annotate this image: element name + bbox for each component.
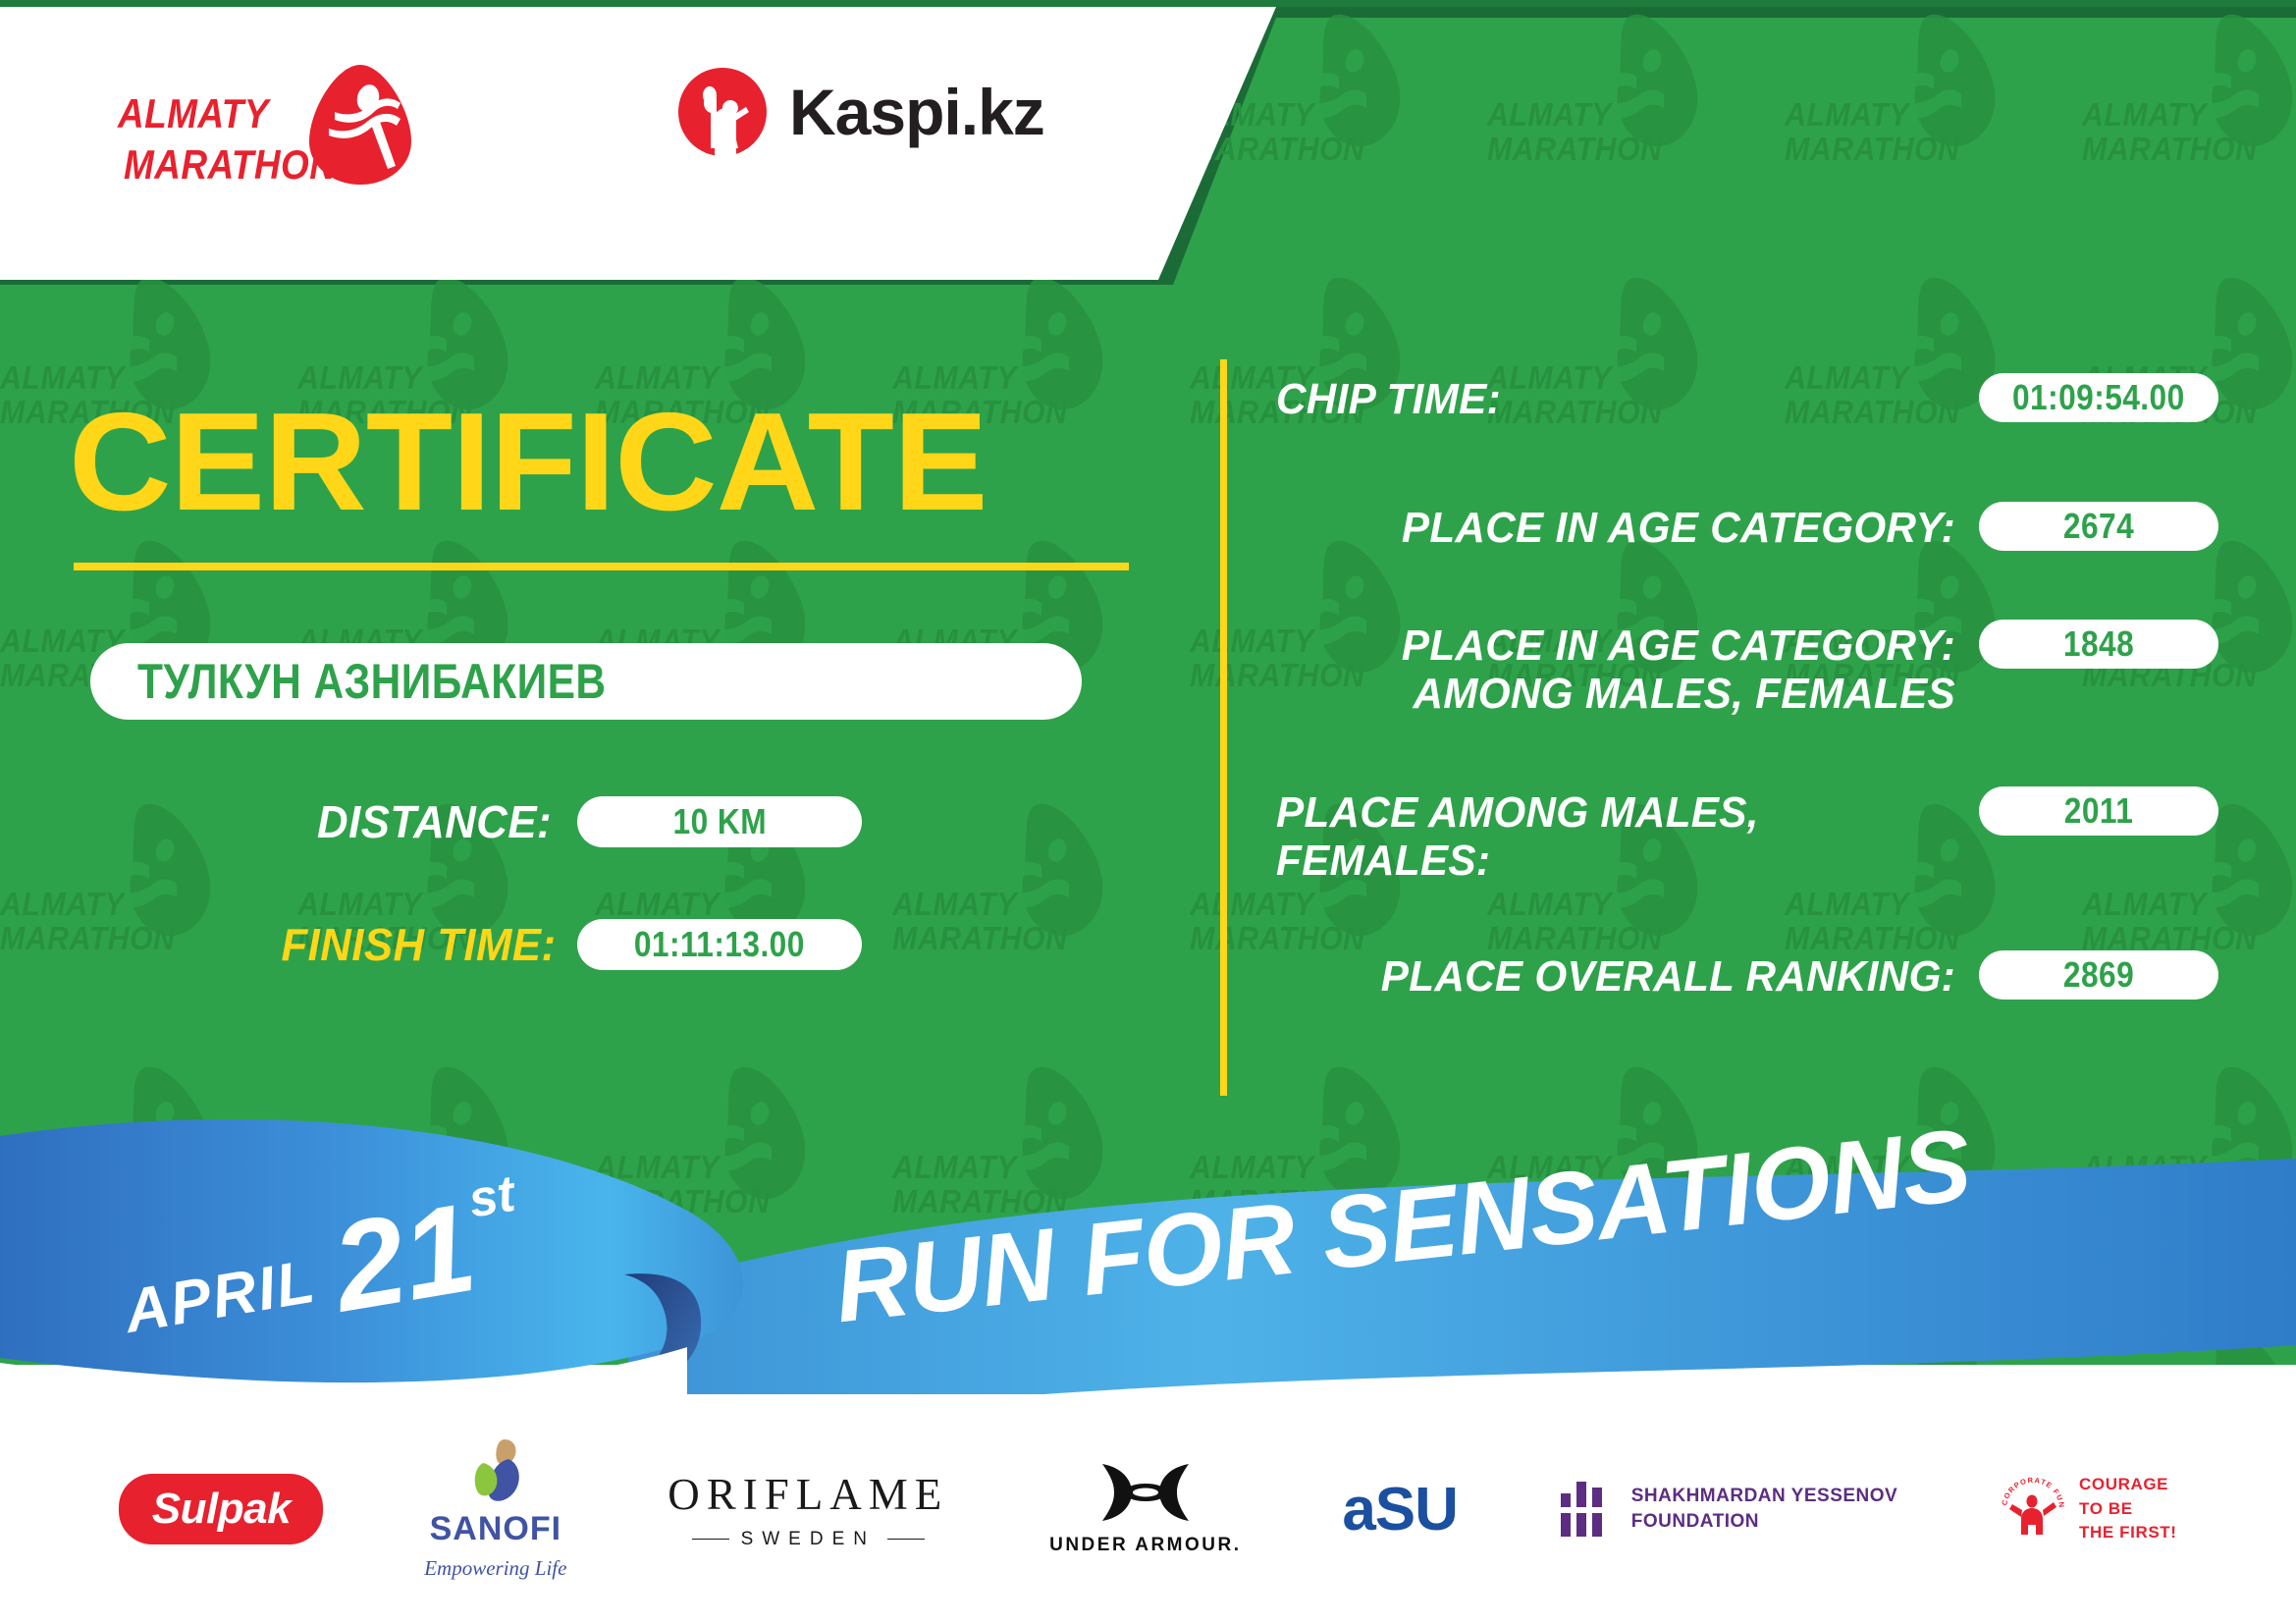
- sponsor-asu-name: aSU: [1342, 1475, 1458, 1544]
- sponsor-oriflame-name: ORIFLAME: [667, 1469, 948, 1520]
- place-overall-value: 2869: [2063, 954, 2134, 996]
- chip-time-value: 01:09:54.00: [2012, 377, 2185, 418]
- place-among-gender-label: PLACE AMONG MALES, FEMALES:: [1276, 786, 1928, 886]
- kaspi-people-circle-icon: [677, 67, 768, 157]
- finish-time-value: 01:11:13.00: [634, 924, 805, 965]
- finish-time-label: FINISH TIME:: [282, 918, 553, 971]
- stat-row: PLACE IN AGE CATEGORY: AMONG MALES, FEMA…: [1276, 620, 2218, 719]
- distance-value: 10 KM: [672, 801, 767, 842]
- sponsor-under-armour-name: UNDER ARMOUR.: [1049, 1535, 1241, 1556]
- almaty-logo-line1: ALMATY: [118, 90, 269, 137]
- sponsor-oriflame-sub-wrap: SWEDEN: [692, 1529, 925, 1550]
- sponsor-sanofi-logo: SANOFI Empowering Life: [424, 1437, 566, 1581]
- distance-label: DISTANCE:: [282, 795, 553, 848]
- stat-row: PLACE AMONG MALES, FEMALES: 2011: [1276, 786, 2218, 886]
- sponsor-sanofi-tagline: Empowering Life: [424, 1556, 566, 1581]
- sponsor-asu-logo: aSU: [1342, 1475, 1458, 1544]
- participant-name: ТУЛКУН АЗНИБАКИЕВ: [137, 653, 606, 710]
- certificate-root: ALMATY MARATHON ALMATY MARATHON: [0, 0, 2296, 1624]
- almaty-logo-line2: MARATHON: [124, 141, 336, 189]
- stat-row: PLACE OVERALL RANKING: 2869: [1276, 950, 2218, 1001]
- corporate-fund-ring-icon: CORPORATE FUND: [1999, 1475, 2067, 1543]
- sponsor-yessenov-text: SHAKHMARDAN YESSENOV FOUNDATION: [1631, 1484, 1897, 1534]
- chip-time-value-pill: 01:09:54.00: [1979, 373, 2218, 422]
- place-overall-label: PLACE OVERALL RANKING:: [1304, 950, 1955, 1001]
- sponsor-oriflame-logo: ORIFLAME SWEDEN: [667, 1469, 948, 1550]
- stat-row: PLACE IN AGE CATEGORY: 2674: [1276, 502, 2218, 552]
- place-age-category-value: 2674: [2063, 506, 2134, 547]
- finish-time-row: FINISH TIME: 01:11:13.00: [267, 918, 862, 971]
- sponsor-sulpak-logo: Sulpak: [119, 1474, 323, 1544]
- distance-row: DISTANCE: 10 KM: [267, 795, 862, 848]
- place-age-category-label: PLACE IN AGE CATEGORY:: [1304, 502, 1955, 552]
- sanofi-mark-icon: [465, 1437, 526, 1504]
- sponsor-yessenov-line1: SHAKHMARDAN YESSENOV: [1631, 1484, 1897, 1509]
- under-armour-glyph-icon: [1095, 1462, 1197, 1523]
- sponsor-corporate-fund-logo: CORPORATE FUND COURAGE TO BE THE FIRST!: [1999, 1473, 2177, 1545]
- yessenov-bars-icon: [1559, 1480, 1614, 1539]
- event-month: APRIL: [120, 1247, 321, 1347]
- sponsor-yessenov-line2: FOUNDATION: [1631, 1509, 1897, 1535]
- participant-name-field: ТУЛКУН АЗНИБАКИЕВ: [90, 643, 1082, 720]
- title-underline-rule: [74, 563, 1129, 570]
- event-day: 21: [327, 1195, 482, 1324]
- sponsor-oriflame-sub: SWEDEN: [741, 1529, 876, 1550]
- stat-row: CHIP TIME: 01:09:54.00: [1276, 373, 2218, 423]
- chip-time-label: CHIP TIME:: [1276, 373, 1928, 423]
- distance-value-pill: 10 KM: [577, 796, 862, 847]
- page-title: CERTIFICATE: [69, 393, 988, 532]
- top-green-strip: [0, 0, 2296, 7]
- sponsor-yessenov-foundation-logo: SHAKHMARDAN YESSENOV FOUNDATION: [1559, 1480, 1897, 1539]
- place-age-category-gender-value: 1848: [2063, 623, 2134, 665]
- kaspi-logo-text: Kaspi.kz: [789, 75, 1044, 149]
- vertical-divider: [1220, 359, 1227, 1096]
- place-age-category-gender-value-pill: 1848: [1979, 620, 2218, 669]
- corporate-fund-line2: TO BE: [2079, 1497, 2177, 1522]
- place-overall-value-pill: 2869: [1979, 950, 2218, 1000]
- oriflame-rule-right-icon: [887, 1539, 925, 1541]
- stats-column: CHIP TIME: 01:09:54.00 PLACE IN AGE CATE…: [1276, 373, 2218, 1001]
- sponsor-bar: Sulpak SANOFI Empowering Life ORIFLAME S…: [0, 1394, 2296, 1624]
- place-age-category-value-pill: 2674: [1979, 502, 2218, 551]
- sponsor-under-armour-logo: UNDER ARMOUR.: [1049, 1462, 1241, 1556]
- kaspi-logo: Kaspi.kz: [677, 67, 1044, 157]
- place-age-category-gender-label: PLACE IN AGE CATEGORY: AMONG MALES, FEMA…: [1304, 620, 1955, 719]
- sponsor-corporate-fund-text: COURAGE TO BE THE FIRST!: [2079, 1473, 2177, 1545]
- finish-time-value-pill: 01:11:13.00: [577, 919, 862, 970]
- place-among-gender-value: 2011: [2064, 790, 2133, 832]
- place-among-gender-value-pill: 2011: [1979, 786, 2218, 836]
- corporate-fund-line1: COURAGE: [2079, 1473, 2177, 1497]
- sponsor-sanofi-name: SANOFI: [430, 1510, 561, 1548]
- corporate-fund-line3: THE FIRST!: [2079, 1521, 2177, 1545]
- almaty-marathon-logo: ALMATY MARATHON: [118, 61, 432, 189]
- oriflame-rule-left-icon: [692, 1539, 729, 1541]
- event-day-ordinal: st: [464, 1164, 519, 1230]
- sponsor-sulpak-label: Sulpak: [152, 1485, 291, 1534]
